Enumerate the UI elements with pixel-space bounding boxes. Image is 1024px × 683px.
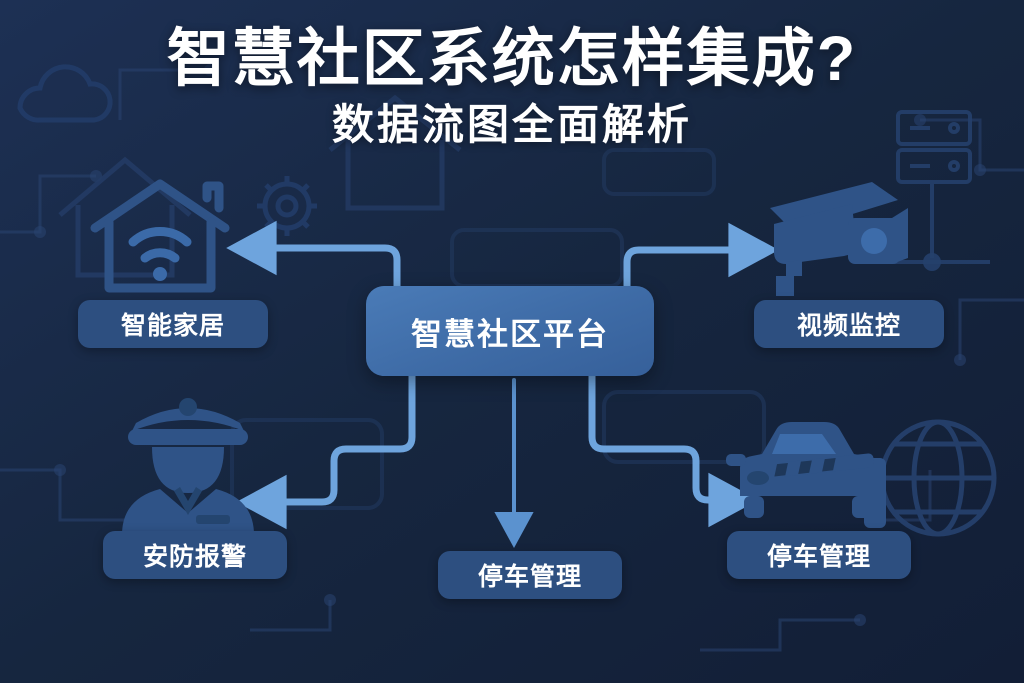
node-security-alarm[interactable]: 安防报警: [103, 531, 287, 579]
node-security-label: 安防报警: [143, 537, 247, 573]
node-parking-right[interactable]: 停车管理: [727, 531, 911, 579]
globe-icon: [882, 422, 994, 534]
house-outline-icon: [60, 160, 190, 275]
security-guard-icon: [112, 389, 264, 535]
network-node-icon: [880, 184, 990, 262]
house-wifi-icon: [85, 176, 235, 298]
poster-canvas: 智慧社区系统怎样集成? 数据流图全面解析: [0, 0, 1024, 683]
edge-platform-to-parking-right: [592, 376, 742, 500]
node-platform-label: 智慧社区平台: [411, 309, 609, 354]
gear-icon: [257, 176, 317, 236]
node-smart-home[interactable]: 智能家居: [78, 300, 268, 348]
node-parking-center-label: 停车管理: [478, 557, 582, 593]
car-barrier-icon: [718, 414, 894, 536]
security-camera-icon: [752, 174, 912, 296]
node-video-surveillance[interactable]: 视频监控: [754, 300, 944, 348]
page-subtitle: 数据流图全面解析: [0, 102, 1024, 148]
edge-platform-to-video: [627, 250, 762, 286]
node-smart-home-label: 智能家居: [121, 306, 225, 342]
node-parking-center[interactable]: 停车管理: [438, 551, 622, 599]
node-parking-right-label: 停车管理: [767, 537, 871, 573]
edge-platform-to-smart-home: [243, 248, 397, 286]
node-video-label: 视频监控: [797, 306, 901, 342]
heading-group: 智慧社区系统怎样集成? 数据流图全面解析: [0, 26, 1024, 148]
page-title: 智慧社区系统怎样集成?: [0, 26, 1024, 92]
edge-platform-to-security: [253, 376, 412, 502]
node-platform[interactable]: 智慧社区平台: [366, 286, 654, 376]
barrier-gate: [773, 453, 886, 528]
